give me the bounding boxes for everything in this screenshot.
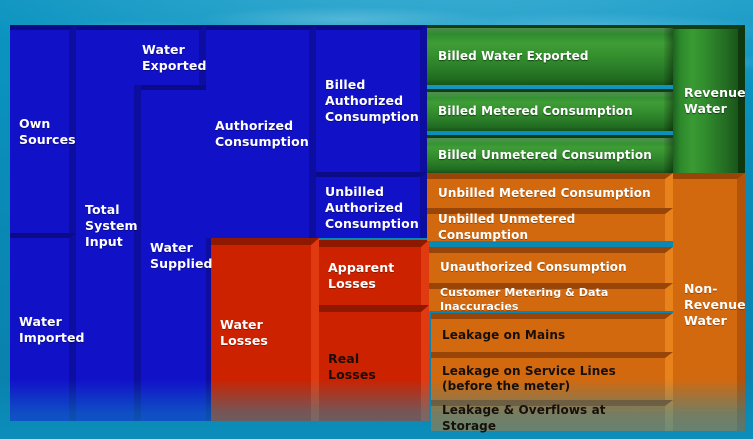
box-water-losses[interactable]: Water Losses (211, 238, 319, 421)
box-unbilled-authorized-consumption[interactable]: Unbilled Authorized Consumption (316, 172, 427, 238)
box-unauthorized-consumption-label: Unauthorized Consumption (440, 260, 627, 275)
box-unbilled-unmetered-consumption[interactable]: Unbilled Unmetered Consumption (427, 208, 673, 241)
box-unauthorized-consumption[interactable]: Unauthorized Consumption (429, 247, 673, 283)
box-own-sources[interactable]: Own Sources (10, 25, 76, 233)
box-leakage-on-mains[interactable]: Leakage on Mains (431, 313, 673, 352)
box-authorized-consumption[interactable]: Authorized Consumption (206, 25, 316, 238)
box-revenue-water[interactable]: Revenue Water (673, 25, 745, 173)
water-balance-diagram: Own Sources Water Imported Total System … (0, 0, 753, 439)
box-unbilled-authorized-consumption-label: Unbilled Authorized Consumption (325, 184, 419, 232)
box-billed-authorized-consumption-label: Billed Authorized Consumption (325, 77, 419, 125)
box-leakage-overflows-at-storage-label: Leakage & Overflows at Storage (442, 403, 659, 434)
box-unbilled-metered-consumption-label: Unbilled Metered Consumption (438, 186, 651, 201)
box-leakage-on-service-lines-label: Leakage on Service Lines (before the met… (442, 364, 616, 395)
box-customer-metering-data-inaccuracies[interactable]: Customer Metering & Data Inaccuracies (429, 283, 673, 311)
box-total-system-input-label: Total System Input (85, 202, 138, 250)
box-apparent-losses-label: Apparent Losses (328, 260, 394, 292)
box-non-revenue-water[interactable]: Non- Revenue Water (673, 173, 745, 431)
box-non-revenue-water-label: Non- Revenue Water (684, 281, 746, 329)
box-total-system-input[interactable]: Total System Input (76, 25, 141, 421)
box-revenue-water-label: Revenue Water (684, 85, 746, 117)
box-apparent-losses[interactable]: Apparent Losses (319, 240, 429, 305)
box-billed-authorized-consumption[interactable]: Billed Authorized Consumption (316, 25, 427, 172)
box-leakage-on-service-lines[interactable]: Leakage on Service Lines (before the met… (431, 352, 673, 400)
box-water-losses-label: Water Losses (220, 317, 268, 349)
box-water-supplied[interactable]: Water Supplied (141, 85, 213, 421)
box-water-supplied-label: Water Supplied (150, 240, 213, 272)
box-unbilled-unmetered-consumption-label: Unbilled Unmetered Consumption (438, 212, 659, 243)
box-leakage-on-mains-label: Leakage on Mains (442, 328, 565, 343)
box-water-exported-label: Water Exported (142, 42, 207, 74)
box-real-losses[interactable]: Real Losses (319, 305, 429, 421)
box-water-imported[interactable]: Water Imported (10, 233, 76, 421)
box-billed-metered-consumption-label: Billed Metered Consumption (438, 104, 633, 119)
box-billed-water-exported-label: Billed Water Exported (438, 49, 589, 64)
box-own-sources-label: Own Sources (19, 116, 76, 148)
box-water-imported-label: Water Imported (19, 314, 85, 346)
box-billed-unmetered-consumption-label: Billed Unmetered Consumption (438, 148, 652, 163)
box-unbilled-metered-consumption[interactable]: Unbilled Metered Consumption (427, 173, 673, 208)
box-customer-metering-data-inaccuracies-label: Customer Metering & Data Inaccuracies (440, 286, 659, 314)
box-water-exported[interactable]: Water Exported (133, 25, 206, 85)
box-billed-metered-consumption[interactable]: Billed Metered Consumption (427, 89, 673, 131)
box-leakage-overflows-at-storage[interactable]: Leakage & Overflows at Storage (431, 400, 673, 431)
box-billed-water-exported[interactable]: Billed Water Exported (427, 25, 673, 85)
box-real-losses-label: Real Losses (328, 351, 376, 383)
box-authorized-consumption-label: Authorized Consumption (215, 118, 309, 150)
box-billed-unmetered-consumption[interactable]: Billed Unmetered Consumption (427, 135, 673, 173)
